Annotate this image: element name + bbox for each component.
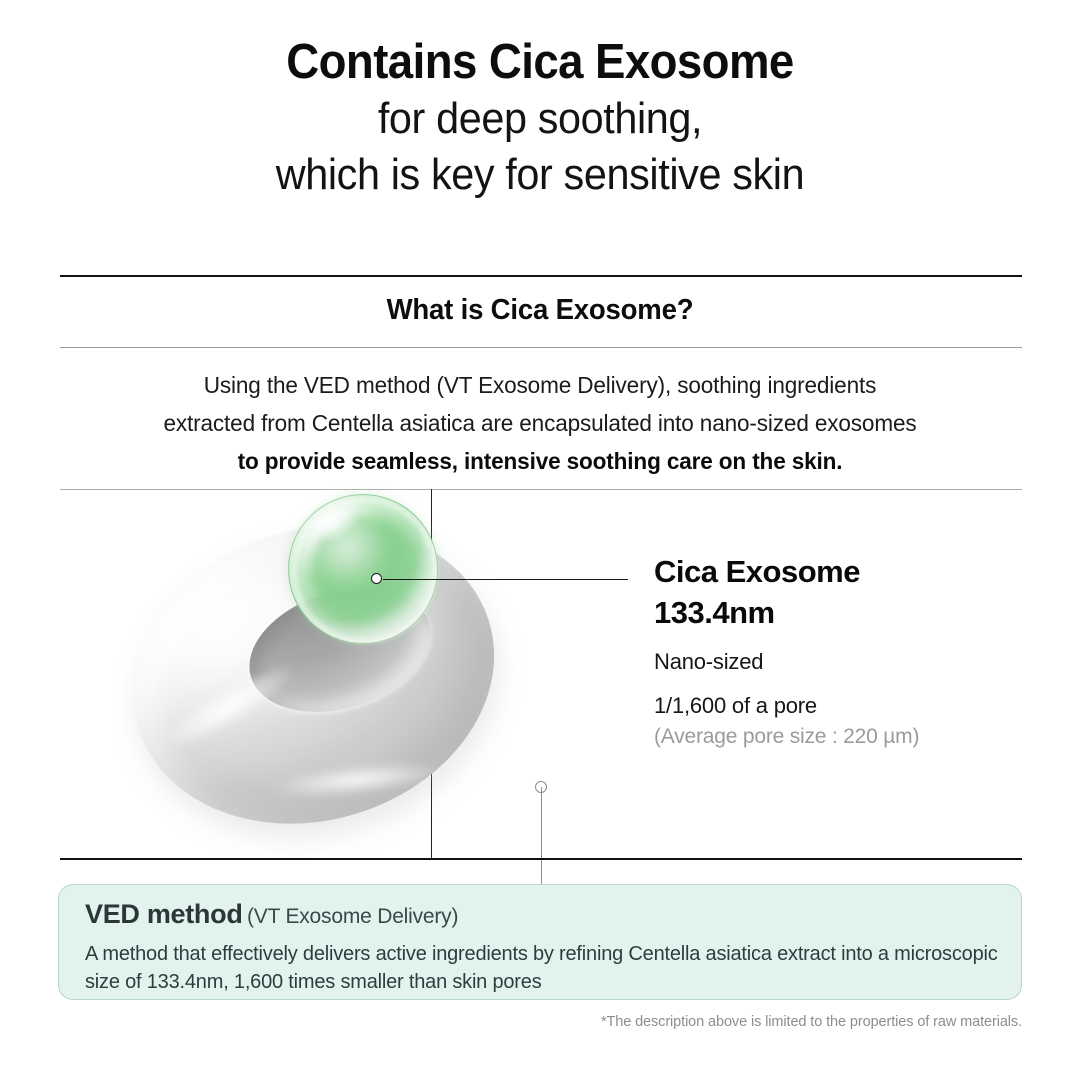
divider-top bbox=[60, 275, 1022, 277]
intro-line-3: to provide seamless, intensive soothing … bbox=[22, 442, 1059, 480]
headline-line-3: which is key for sensitive skin bbox=[32, 147, 1047, 203]
ved-leader-line bbox=[541, 787, 542, 884]
callout-leader-line bbox=[383, 579, 628, 580]
footnote: *The description above is limited to the… bbox=[601, 1014, 1022, 1030]
intro-line-1: Using the VED method (VT Exosome Deliver… bbox=[22, 366, 1059, 404]
intro-line-2: extracted from Centella asiatica are enc… bbox=[22, 404, 1059, 442]
callout-sub-line-1: Nano-sized bbox=[654, 646, 1024, 677]
sphere-rim-highlight bbox=[293, 499, 437, 643]
ved-title-row: VED method (VT Exosome Delivery) bbox=[85, 899, 458, 930]
headline-line-2: for deep soothing, bbox=[32, 91, 1047, 147]
callout-anchor-dot-icon bbox=[371, 573, 382, 584]
ved-body-line-2: size of 133.4nm, 1,600 times smaller tha… bbox=[85, 968, 1005, 996]
divider-below-illustration bbox=[60, 858, 1022, 860]
intro-paragraph: Using the VED method (VT Exosome Deliver… bbox=[0, 366, 1080, 480]
headline-block: Contains Cica Exosome for deep soothing,… bbox=[0, 34, 1080, 203]
illustration-stage: Cica Exosome 133.4nm Nano-sized 1/1,600 … bbox=[0, 489, 1080, 858]
callout-title-line-1: Cica Exosome bbox=[654, 551, 1024, 592]
divider-under-question bbox=[60, 347, 1022, 348]
section-question: What is Cica Exosome? bbox=[27, 294, 1053, 327]
callout-title-line-2: 133.4nm bbox=[654, 592, 1024, 633]
ved-title-parenthetical: (VT Exosome Delivery) bbox=[247, 905, 458, 928]
ved-body-text: A method that effectively delivers activ… bbox=[85, 940, 1005, 996]
exosome-callout-label: Cica Exosome 133.4nm Nano-sized 1/1,600 … bbox=[654, 551, 1024, 752]
cica-exosome-sphere bbox=[288, 494, 438, 644]
ved-title: VED method bbox=[85, 899, 243, 929]
callout-note: (Average pore size : 220 µm) bbox=[654, 721, 1024, 752]
ved-body-line-1: A method that effectively delivers activ… bbox=[85, 940, 1005, 968]
callout-sub-line-2: 1/1,600 of a pore bbox=[654, 690, 1024, 721]
headline-line-1: Contains Cica Exosome bbox=[38, 34, 1042, 91]
infographic-page: Contains Cica Exosome for deep soothing,… bbox=[0, 0, 1080, 1080]
ved-method-box: VED method (VT Exosome Delivery) A metho… bbox=[58, 884, 1022, 1000]
